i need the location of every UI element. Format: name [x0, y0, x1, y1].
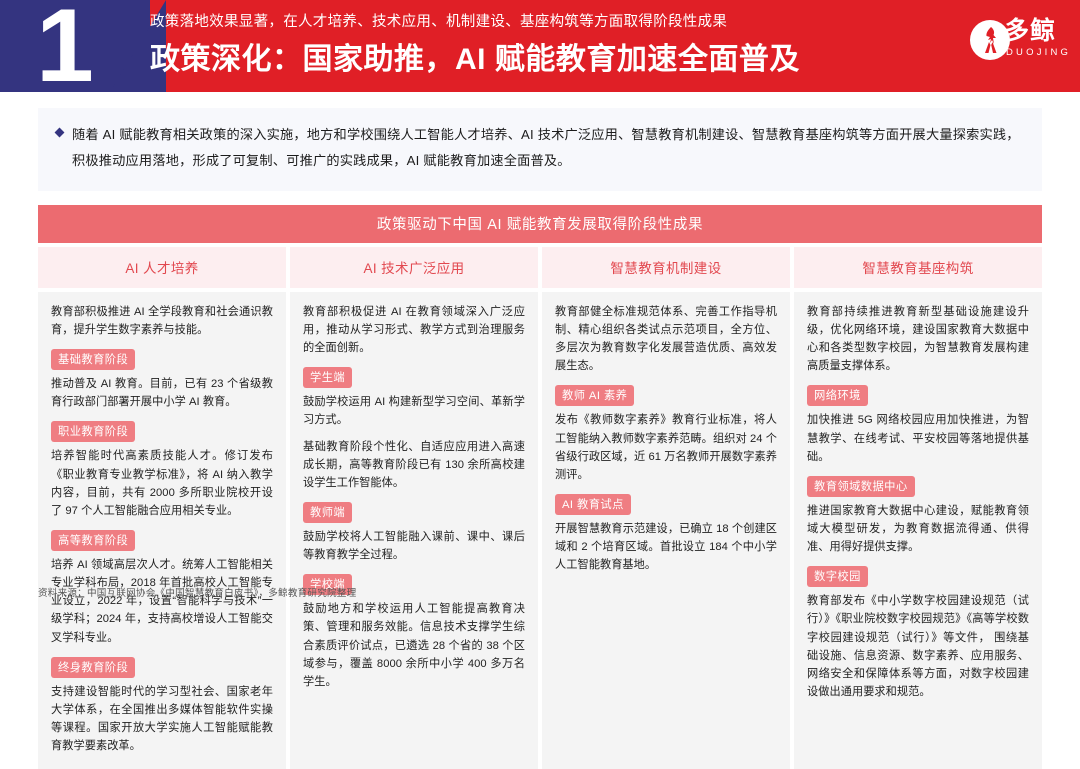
whale-figure-mark-icon: [979, 26, 1003, 54]
results-table: 政策驱动下中国 AI 赋能教育发展取得阶段性成果 AI 人才培养 AI 技术广泛…: [38, 205, 1042, 769]
logo-chinese-name: 多鲸: [1004, 18, 1056, 44]
cell-paragraph: 推进国家教育大数据中心建设，赋能教育领域大模型研发，为教育数据流得通、供得准、用…: [807, 502, 1029, 556]
cell-paragraph: 鼓励学校运用 AI 构建新型学习空间、革新学习方式。: [303, 393, 525, 429]
cell-paragraph: 教育部健全标准规范体系、完善工作指导机制、精心组织各类试点示范项目，全方位、多层…: [555, 303, 777, 376]
stage-tag: 职业教育阶段: [51, 421, 135, 442]
cell-paragraph: 培养 AI 领域高层次人才。统筹人工智能相关专业学科布局，2018 年首批高校人…: [51, 556, 273, 647]
table-column-headers: AI 人才培养 AI 技术广泛应用 智慧教育机制建设 智慧教育基座构筑: [38, 247, 1042, 288]
stage-tag: 网络环境: [807, 385, 868, 406]
cell-paragraph: 推动普及 AI 教育。目前，已有 23 个省级教育行政部门部署开展中小学 AI …: [51, 375, 273, 411]
stage-tag: 教师 AI 素养: [555, 385, 634, 406]
intro-paragraph: 随着 AI 赋能教育相关政策的深入实施，地方和学校围绕人工智能人才培养、AI 技…: [72, 122, 1020, 175]
column-body: 教育部积极促进 AI 在教育领域深入广泛应用，推动从学习形式、教学方式到治理服务…: [290, 292, 538, 769]
stage-tag: 数字校园: [807, 566, 868, 587]
column-header: AI 技术广泛应用: [290, 247, 538, 288]
logo-latin-name: DUOJING: [1006, 47, 1071, 58]
column-body: 教育部积极推进 AI 全学段教育和社会通识教育，提升学生数字素养与技能。基础教育…: [38, 292, 286, 769]
column-header: 智慧教育机制建设: [542, 247, 790, 288]
cell-paragraph: 发布《教师数字素养》教育行业标准，将人工智能纳入教师数字素养范畴。组织对 24 …: [555, 411, 777, 484]
cell-paragraph: 基础教育阶段个性化、自适应应用进入高速成长期，高等教育阶段已有 130 余所高校…: [303, 438, 525, 492]
column-header: 智慧教育基座构筑: [794, 247, 1042, 288]
column-header: AI 人才培养: [38, 247, 286, 288]
stage-tag: 基础教育阶段: [51, 349, 135, 370]
cell-paragraph: 加快推进 5G 网络校园应用加快推进，为智慧教学、在线考试、平安校园等落地提供基…: [807, 411, 1029, 465]
intro-panel: 随着 AI 赋能教育相关政策的深入实施，地方和学校围绕人工智能人才培养、AI 技…: [38, 108, 1042, 191]
source-note: 资料来源：中国互联网协会《中国智慧教育白皮书》，多鲸教育研究院整理: [38, 585, 356, 599]
column-body: 教育部持续推进教育新型基础设施建设升级，优化网络环境，建设国家教育大数据中心和各…: [794, 292, 1042, 769]
brand-logo: 多鲸 DUOJING: [970, 18, 1066, 76]
cell-paragraph: 培养智能时代高素质技能人才。修订发布《职业教育专业教学标准》，将 AI 纳入教学…: [51, 447, 273, 520]
stage-tag: AI 教育试点: [555, 494, 631, 515]
page-title: 政策深化：国家助推，AI 赋能教育加速全面普及: [150, 34, 800, 78]
page-header: 1 政策落地效果显著，在人才培养、技术应用、机制建设、基座构筑等方面取得阶段性成…: [0, 0, 1080, 92]
cell-paragraph: 教育部积极推进 AI 全学段教育和社会通识教育，提升学生数字素养与技能。: [51, 303, 273, 339]
cell-paragraph: 开展智慧教育示范建设，已确立 18 个创建区域和 2 个培育区域。首批设立 18…: [555, 520, 777, 574]
table-title: 政策驱动下中国 AI 赋能教育发展取得阶段性成果: [38, 205, 1042, 243]
stage-tag: 教师端: [303, 502, 352, 523]
header-subtitle: 政策落地效果显著，在人才培养、技术应用、机制建设、基座构筑等方面取得阶段性成果: [150, 10, 800, 31]
cell-paragraph: 鼓励学校将人工智能融入课前、课中、课后等教育教学全过程。: [303, 528, 525, 564]
diamond-bullet-icon: [55, 128, 65, 138]
stage-tag: 终身教育阶段: [51, 657, 135, 678]
cell-paragraph: 支持建设智能时代的学习型社会、国家老年大学体系，在全国推出多媒体智能软件实操等课…: [51, 683, 273, 756]
cell-paragraph: 教育部发布《中小学数字校园建设规范（试行）》《职业院校数字校园规范》《高等学校数…: [807, 592, 1029, 701]
stage-tag: 高等教育阶段: [51, 530, 135, 551]
column-body: 教育部健全标准规范体系、完善工作指导机制、精心组织各类试点示范项目，全方位、多层…: [542, 292, 790, 769]
stage-tag: 教育领域数据中心: [807, 476, 915, 497]
table-column-bodies: 教育部积极推进 AI 全学段教育和社会通识教育，提升学生数字素养与技能。基础教育…: [38, 292, 1042, 769]
cell-paragraph: 教育部持续推进教育新型基础设施建设升级，优化网络环境，建设国家教育大数据中心和各…: [807, 303, 1029, 376]
stage-tag: 学生端: [303, 367, 352, 388]
header-text-group: 政策落地效果显著，在人才培养、技术应用、机制建设、基座构筑等方面取得阶段性成果 …: [150, 10, 800, 78]
section-number: 1: [36, 0, 92, 92]
cell-paragraph: 教育部积极促进 AI 在教育领域深入广泛应用，推动从学习形式、教学方式到治理服务…: [303, 303, 525, 357]
cell-paragraph: 鼓励地方和学校运用人工智能提高教育决策、管理和服务效能。信息技术支撑学生综合素质…: [303, 600, 525, 691]
